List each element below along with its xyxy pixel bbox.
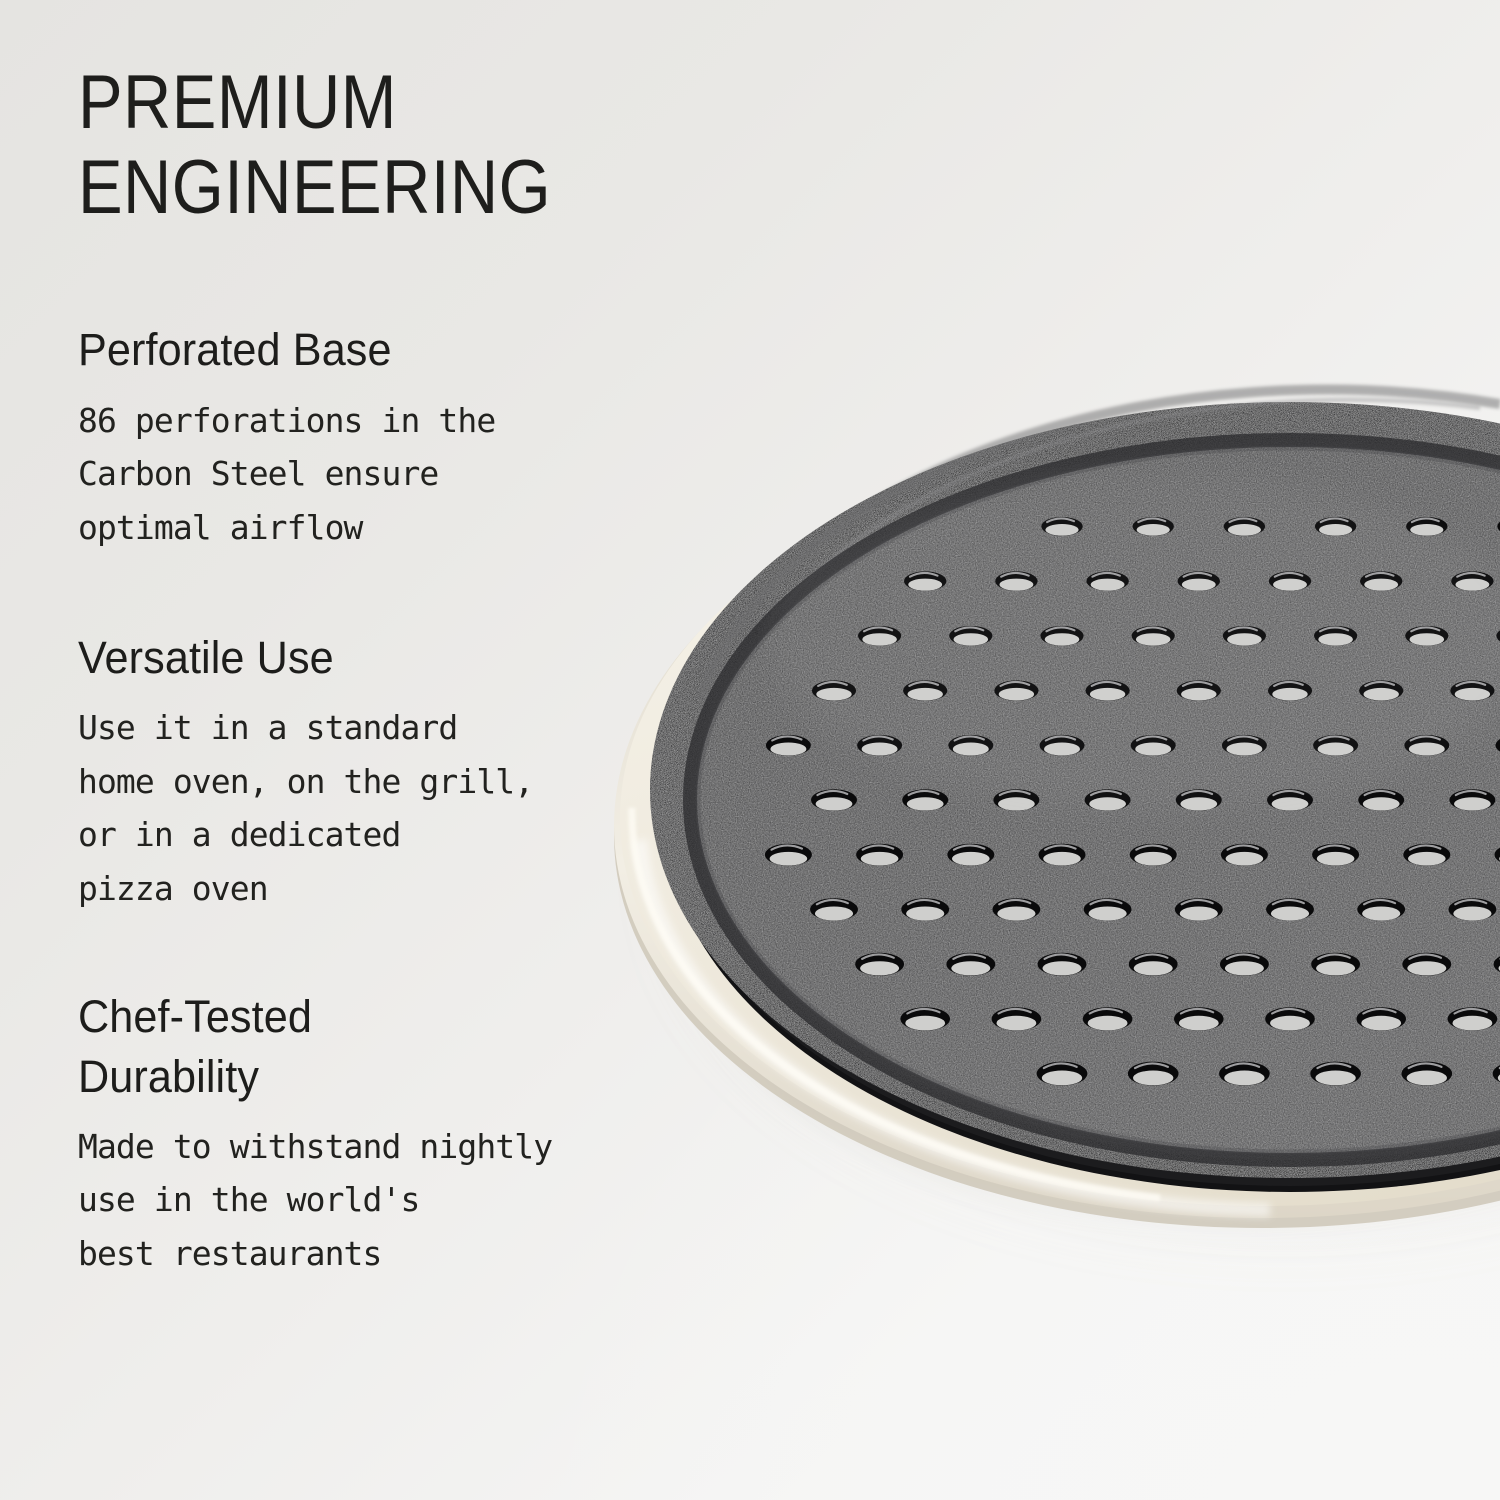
perforation-hole xyxy=(903,680,947,700)
perforation-hole xyxy=(1128,1062,1179,1086)
perforation-hole xyxy=(811,789,857,810)
perforation-hole xyxy=(949,626,992,646)
perforation-hole xyxy=(812,680,856,700)
product-feature-card: PREMIUM ENGINEERING Perforated Base 86 p… xyxy=(0,0,1500,1500)
perforation-hole xyxy=(992,1007,1042,1030)
perforation-hole xyxy=(1085,789,1131,810)
perforation-hole xyxy=(857,735,902,756)
perforation-hole xyxy=(1449,898,1497,920)
perforation-hole xyxy=(1220,953,1269,976)
perforation-hole xyxy=(1132,626,1175,646)
perforation-hole xyxy=(1269,571,1311,590)
feature-body: 86 perforations in the Carbon Steel ensu… xyxy=(78,394,778,554)
perforation-hole xyxy=(1495,844,1500,866)
perforation-hole xyxy=(1494,953,1500,976)
perforation-hole xyxy=(1496,735,1500,756)
pan-face xyxy=(690,440,1500,1160)
perforation-hole xyxy=(1403,844,1450,866)
feature-title: Chef-Tested Durability xyxy=(78,987,750,1106)
perforation-hole xyxy=(1040,735,1085,756)
perforation-hole xyxy=(947,844,994,866)
perforation-hole xyxy=(1131,735,1176,756)
feature-block-chef-tested-durability: Chef-Tested Durability Made to withstand… xyxy=(78,987,778,1280)
perforation-hole xyxy=(1359,680,1403,700)
feature-body: Made to withstand nightly use in the wor… xyxy=(78,1120,778,1280)
perforation-hole xyxy=(1268,680,1312,700)
perforation-hole xyxy=(1310,1062,1361,1086)
perforation-hole xyxy=(1267,789,1313,810)
perforation-hole xyxy=(1083,1007,1133,1030)
perforation-hole xyxy=(902,789,948,810)
perforation-hole xyxy=(1266,898,1314,920)
perforation-hole xyxy=(1496,626,1500,646)
perforation-hole xyxy=(1356,1007,1406,1030)
perforation-hole xyxy=(1315,517,1356,536)
perforation-hole xyxy=(1086,680,1130,700)
feature-block-perforated-base: Perforated Base 86 perforations in the C… xyxy=(78,320,778,554)
perforation-hole xyxy=(1133,517,1174,536)
perforation-hole xyxy=(1311,953,1360,976)
perforation-hole xyxy=(1312,844,1359,866)
perforation-hole xyxy=(1041,517,1082,536)
perforation-hole xyxy=(904,571,946,590)
perforation-hole xyxy=(1037,1062,1088,1086)
pan-sheen xyxy=(770,470,1500,810)
perforation-hole xyxy=(856,844,903,866)
perforation-hole xyxy=(994,680,1038,700)
perforation-hole xyxy=(1129,953,1178,976)
perforation-hole xyxy=(1402,1062,1453,1086)
perforation-hole xyxy=(1221,844,1268,866)
perforation-hole xyxy=(810,898,858,920)
pan-under-edge xyxy=(663,426,1500,1192)
perforation-hole xyxy=(1174,1007,1224,1030)
perforation-hole xyxy=(1222,735,1267,756)
perforation-hole xyxy=(1357,898,1405,920)
perforation-hole xyxy=(1406,517,1447,536)
perforation-hole xyxy=(995,571,1037,590)
perforation-hole xyxy=(1040,626,1083,646)
perforation-hole xyxy=(1039,844,1086,866)
perforation-hole xyxy=(1084,898,1132,920)
perforation-hole xyxy=(1265,1007,1315,1030)
perforation-hole xyxy=(1223,626,1266,646)
perforation-hole xyxy=(1130,844,1177,866)
perforation-hole xyxy=(855,953,904,976)
page-title: PREMIUM ENGINEERING xyxy=(78,60,694,230)
perforation-hole xyxy=(1175,898,1223,920)
perforation-holes xyxy=(765,517,1500,1086)
perforation-hole xyxy=(1314,626,1357,646)
perforation-hole xyxy=(1038,953,1087,976)
perforation-hole xyxy=(1358,789,1404,810)
perforation-hole xyxy=(1493,1062,1500,1086)
feature-title: Perforated Base xyxy=(78,320,750,379)
perforation-hole xyxy=(1176,789,1222,810)
perforation-hole xyxy=(1224,517,1265,536)
perforation-hole xyxy=(1086,571,1128,590)
perforation-hole xyxy=(1404,735,1449,756)
perforation-hole xyxy=(993,898,1041,920)
copy-column: PREMIUM ENGINEERING Perforated Base 86 p… xyxy=(78,60,778,1280)
perforation-hole xyxy=(858,626,901,646)
feature-title: Versatile Use xyxy=(78,628,750,687)
perforation-hole xyxy=(1177,680,1221,700)
perforation-hole xyxy=(1450,680,1494,700)
perforation-hole xyxy=(1449,789,1495,810)
perforation-hole xyxy=(1360,571,1402,590)
perforation-hole xyxy=(948,735,993,756)
perforation-hole xyxy=(1313,735,1358,756)
perforation-hole xyxy=(1402,953,1451,976)
perforation-hole xyxy=(901,898,949,920)
perforation-hole xyxy=(946,953,995,976)
perforation-hole xyxy=(1451,571,1493,590)
perforation-hole xyxy=(1405,626,1448,646)
perforation-hole xyxy=(1178,571,1220,590)
feature-body: Use it in a standard home oven, on the g… xyxy=(78,701,778,915)
perforation-hole xyxy=(1448,1007,1498,1030)
perforation-hole xyxy=(900,1007,950,1030)
perforation-hole xyxy=(993,789,1039,810)
feature-block-versatile-use: Versatile Use Use it in a standard home … xyxy=(78,628,778,915)
perforation-hole xyxy=(1219,1062,1270,1086)
